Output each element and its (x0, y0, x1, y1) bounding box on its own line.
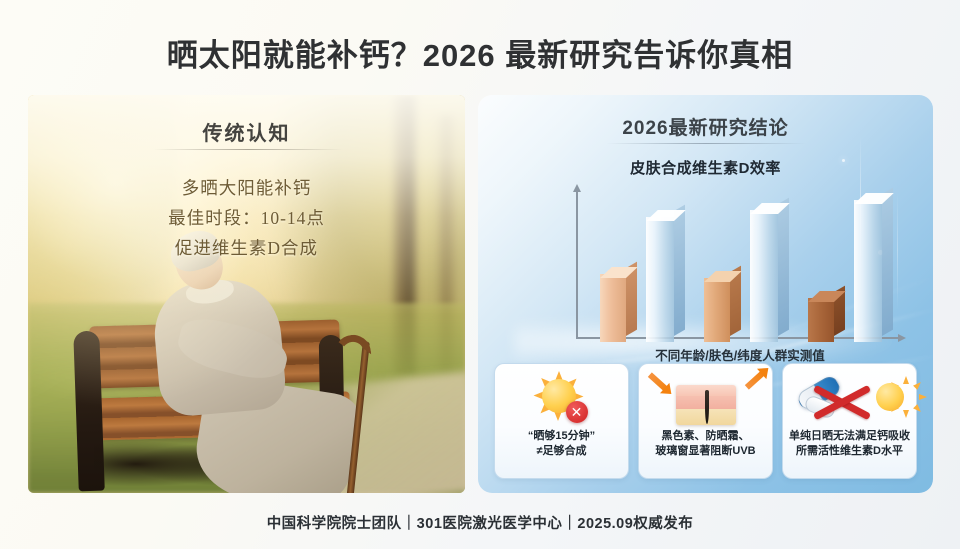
bar-side (882, 188, 893, 336)
card-1-line-1: “晒够15分钟” (528, 429, 595, 444)
bar-face (600, 274, 626, 342)
card-2-line-1: 黑色素、防晒霜、 (655, 429, 755, 444)
left-panel-divider (153, 149, 343, 150)
bar-face (750, 210, 778, 342)
chart-x-axis-label: 不同年龄/肤色/纬度人群实测值 (570, 345, 910, 364)
left-panel-text-block: 多晒大阳能补钙 最佳时段：10-14点 促进维生素D合成 (28, 173, 465, 263)
vitamin-d-efficiency-chart: 不同年龄/肤色/纬度人群实测值 (570, 187, 910, 342)
bar-measured-3 (808, 298, 834, 342)
card-1-caption: “晒够15分钟” ≠足够合成 (528, 429, 595, 459)
bar-side (778, 198, 789, 336)
bar-measured-1 (600, 274, 626, 342)
x-axis-arrow-icon (898, 334, 906, 342)
card-3-line-2: 所需活性维生素D水平 (789, 444, 910, 459)
bar-face (646, 217, 674, 342)
bar-side (674, 205, 685, 336)
left-text-line-2: 最佳时段：10-14点 (28, 203, 465, 233)
bar-face (808, 298, 834, 342)
bar-measured-2 (704, 278, 730, 342)
bar-face (854, 200, 882, 342)
card-2-caption: 黑色素、防晒霜、 玻璃窗显著阻断UVB (655, 429, 755, 459)
conclusion-card-2[interactable]: 黑色素、防晒霜、 玻璃窗显著阻断UVB (638, 363, 773, 479)
left-panel-heading: 传统认知 (28, 117, 465, 146)
left-text-line-3: 促进维生素D合成 (28, 233, 465, 263)
right-panel-divider (606, 143, 806, 144)
card-3-line-1: 单纯日晒无法满足钙吸收 (789, 429, 910, 444)
bar-face (704, 278, 730, 342)
card-2-line-2: 玻璃窗显著阻断UVB (655, 444, 755, 459)
y-axis-arrow-icon (573, 184, 581, 192)
left-text-line-1: 多晒大阳能补钙 (28, 173, 465, 203)
research-conclusion-panel: 2026最新研究结论 皮肤合成维生素D效率 (478, 95, 933, 493)
pill-and-sun-crossed-icon (783, 371, 916, 427)
chart-y-axis (576, 191, 578, 339)
source-footer: 中国科学院院士团队｜301医院激光医学中心｜2025.09权威发布 (0, 512, 960, 533)
chart-title: 皮肤合成维生素D效率 (478, 157, 933, 178)
conclusion-cards: ✕ “晒够15分钟” ≠足够合成 黑色素、防晒霜、 玻璃窗显著阻断UV (494, 363, 917, 479)
park-photo (28, 95, 465, 493)
bar-required-2 (750, 210, 778, 342)
uvb-incoming-arrow-icon (648, 372, 668, 391)
conclusion-card-1[interactable]: ✕ “晒够15分钟” ≠足够合成 (494, 363, 629, 479)
sun-disc (876, 383, 904, 411)
card-3-caption: 单纯日晒无法满足钙吸收 所需活性维生素D水平 (789, 429, 910, 459)
page-title: 晒太阳就能补钙？2026 最新研究告诉你真相 (0, 30, 960, 75)
sun-with-red-x-icon: ✕ (495, 371, 628, 427)
bar-required-3 (854, 200, 882, 342)
bar-required-1 (646, 217, 674, 342)
hair-follicle (705, 390, 709, 424)
right-panel-heading: 2026最新研究结论 (478, 113, 933, 140)
traditional-belief-panel: 传统认知 多晒大阳能补钙 最佳时段：10-14点 促进维生素D合成 (28, 95, 465, 493)
uvb-blocked-arrow-icon (745, 370, 765, 389)
conclusion-card-3[interactable]: 单纯日晒无法满足钙吸收 所需活性维生素D水平 (782, 363, 917, 479)
card-1-line-2: ≠足够合成 (528, 444, 595, 459)
red-x-badge-icon: ✕ (566, 401, 588, 423)
skin-layers-uvb-icon (639, 371, 772, 427)
skin-cross-section (676, 385, 736, 425)
